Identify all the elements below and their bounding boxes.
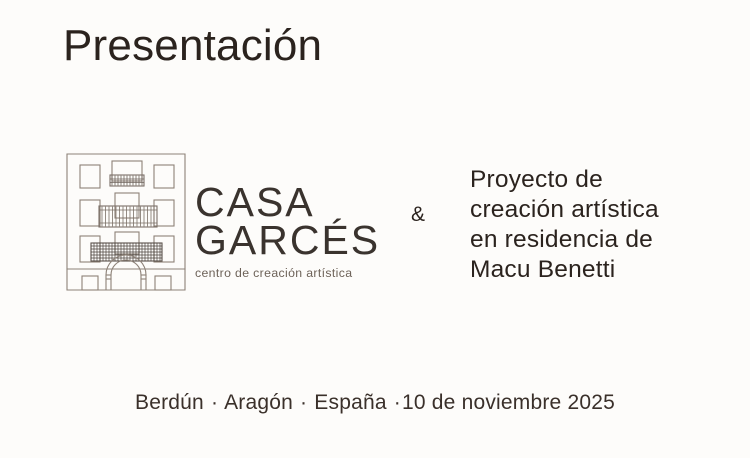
project-description: Proyecto de creación artística en reside… [470,165,720,285]
footer-region: Aragón [224,391,293,414]
ampersand-separator: & [404,204,432,225]
project-line-2: creación artística [470,195,720,225]
footer-separator-1: · [210,391,219,414]
content-row: CASA GARCÉS centro de creación artística… [0,140,750,310]
project-line-3: en residencia de [470,225,720,255]
footer-location-date: Berdún · Aragón · España ·10 de noviembr… [0,391,750,415]
logo-wordmark: CASA GARCÉS centro de creación artística [195,184,385,280]
footer-separator-3: · [393,391,402,414]
footer-country: España [314,391,386,414]
footer-separator-2: · [299,391,308,414]
project-line-4: Macu Benetti [470,255,720,285]
logo-line-garces: GARCÉS [195,222,385,260]
footer-date: 10 de noviembre 2025 [402,391,615,414]
casa-garces-logo: CASA GARCÉS centro de creación artística [62,140,382,300]
logo-tagline: centro de creación artística [195,266,385,280]
page-title: Presentación [63,22,322,70]
building-icon [62,148,190,296]
project-line-1: Proyecto de [470,165,720,195]
presentation-slide: Presentación [0,0,750,458]
footer-place: Berdún [135,391,204,414]
